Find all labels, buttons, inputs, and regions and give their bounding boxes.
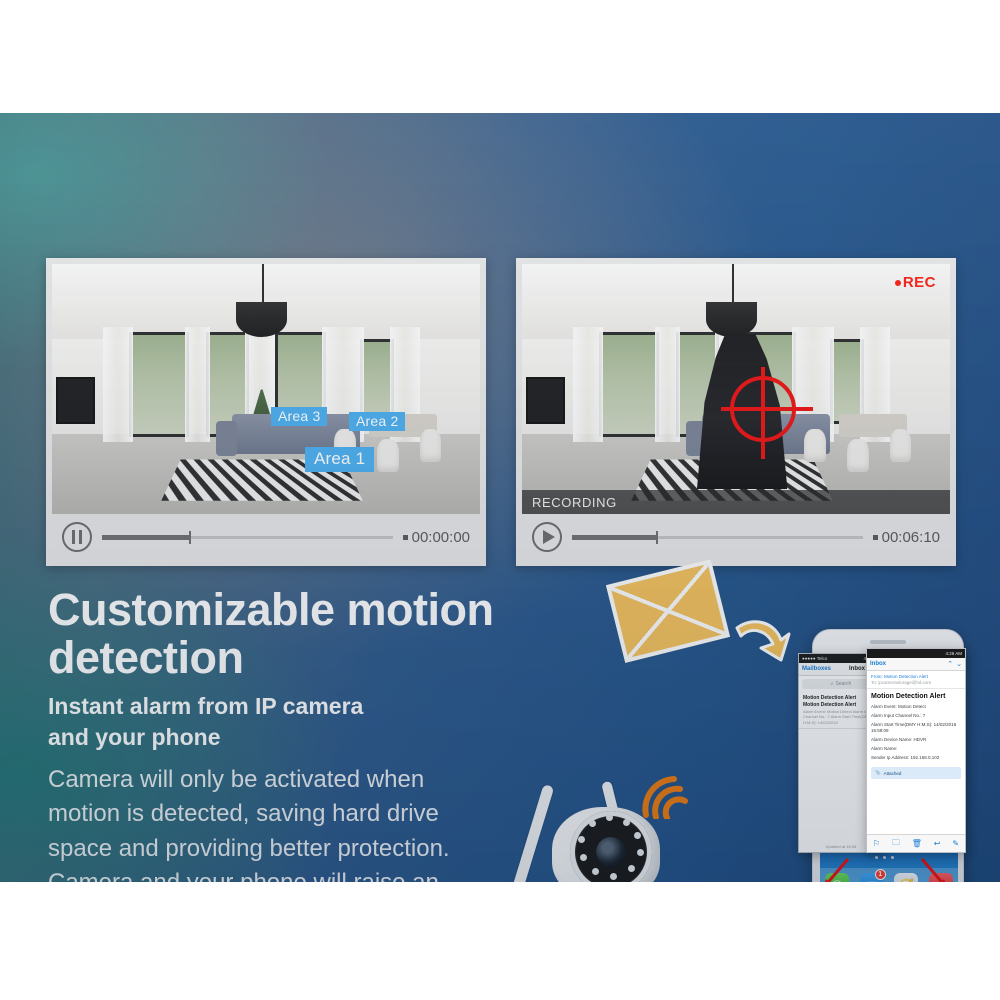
pause-icon[interactable] (62, 522, 92, 552)
flag-icon[interactable]: ⚐ (873, 839, 880, 848)
dock-app-safari[interactable]: 🧭 Safari (893, 873, 919, 882)
body-paragraph: Camera will only be activated when motio… (48, 763, 468, 882)
living-room-scene (52, 264, 480, 514)
mail-from: From: Motion Detection Alert (867, 671, 965, 679)
chevron-down-icon[interactable]: ⌄ (956, 660, 962, 668)
dock-app-mail[interactable]: ✉ 1 Mail (859, 873, 885, 882)
timestamp-left-value: 00:00:00 (412, 529, 470, 546)
target-crosshair-icon (730, 376, 796, 442)
ip-camera-graphic (512, 761, 712, 882)
progress-track-right[interactable] (572, 536, 863, 539)
alarm-field: Alarm Start Time(DMY H:M:S): 14/02/2016 … (867, 721, 965, 737)
camera-lens (596, 837, 626, 867)
video-player-right[interactable]: REC RECORDING 00:06:10 (516, 258, 956, 566)
mail-to: To: ipcamerastorage@hd.com (867, 679, 965, 689)
chevron-up-icon[interactable]: ⌃ (947, 660, 953, 668)
envelope-icon (606, 559, 730, 663)
play-icon[interactable] (532, 522, 562, 552)
red-arrow-right (918, 857, 952, 882)
reply-icon[interactable]: ↩ (934, 839, 941, 848)
back-button-mailboxes[interactable]: Mailboxes (802, 666, 831, 672)
wifi-waves-icon (640, 771, 692, 819)
mail-detail-screenshot[interactable]: 4:26 AM Inbox ⌃ ⌄ From: Motion Detection… (866, 648, 966, 853)
video-frame-right: REC RECORDING (522, 264, 950, 514)
folder-icon[interactable]: 🗀 (892, 837, 900, 851)
page-subtitle: Instant alarm from IP camera and your ph… (48, 691, 478, 752)
timestamp-right-value: 00:06:10 (882, 529, 940, 546)
video-frame-left: Area 3 Area 2 Area 1 (52, 264, 480, 514)
player-controls-left[interactable]: 00:00:00 (52, 514, 480, 560)
phone-earpiece (870, 640, 906, 644)
area-tag-1[interactable]: Area 1 (305, 447, 374, 472)
content-panel: Area 3 Area 2 Area 1 00:00:00 (0, 113, 1000, 882)
clock-label-detail: 4:26 AM (945, 651, 962, 656)
page-title: Customizable motion detection (48, 586, 508, 681)
attachment-chip[interactable]: 📎 Attached (871, 767, 961, 779)
trash-icon[interactable]: 🗑 (912, 839, 922, 848)
video-player-left[interactable]: Area 3 Area 2 Area 1 00:00:00 (46, 258, 486, 566)
safari-icon[interactable]: 🧭 (894, 873, 918, 882)
area-tag-3[interactable]: Area 3 (271, 407, 327, 426)
progress-track-left[interactable] (102, 536, 393, 539)
rec-badge-label: REC (903, 274, 936, 291)
area-tag-2[interactable]: Area 2 (349, 412, 405, 431)
timestamp-left: 00:00:00 (403, 529, 470, 546)
rec-badge: REC (895, 274, 936, 291)
alarm-field: Alarm Device Name: HDVR (867, 736, 965, 745)
camera-antenna-left (509, 784, 555, 882)
recording-status-bar: RECORDING (522, 490, 950, 514)
back-button-inbox[interactable]: Inbox (870, 661, 886, 667)
paperclip-icon: 📎 (875, 770, 881, 776)
rec-dot-icon (895, 280, 901, 286)
infographic-canvas: Area 3 Area 2 Area 1 00:00:00 (0, 0, 1000, 1000)
mail-badge: 1 (875, 869, 886, 880)
mail-toolbar[interactable]: ⚐ 🗀 🗑 ↩ ✎ (867, 834, 965, 852)
alarm-field: Alarm Name: (867, 745, 965, 754)
search-icon: ⌕ (831, 681, 834, 687)
player-controls-right[interactable]: 00:06:10 (522, 514, 950, 560)
mail-detail-subject: Motion Detection Alert (867, 689, 965, 703)
alarm-field: Alarm Input Channel No.: 7 (867, 712, 965, 721)
attachment-label: Attached (884, 771, 902, 776)
alarm-field: Alarm Event: Motion Detect (867, 703, 965, 712)
page-dots (875, 856, 894, 859)
alarm-field: Sender Ip Address: 192.168.0.102 (867, 754, 965, 763)
curved-arrow-icon (735, 618, 791, 664)
carrier-label: ●●●●● Telco (802, 656, 827, 661)
red-arrow-left (818, 857, 852, 882)
recording-label: RECORDING (532, 495, 617, 510)
detail-navbar[interactable]: Inbox ⌃ ⌄ (867, 658, 965, 671)
timestamp-right: 00:06:10 (873, 529, 940, 546)
status-bar-detail: 4:26 AM (867, 649, 965, 658)
search-placeholder: Search (835, 681, 851, 687)
compose-icon[interactable]: ✎ (952, 839, 959, 848)
